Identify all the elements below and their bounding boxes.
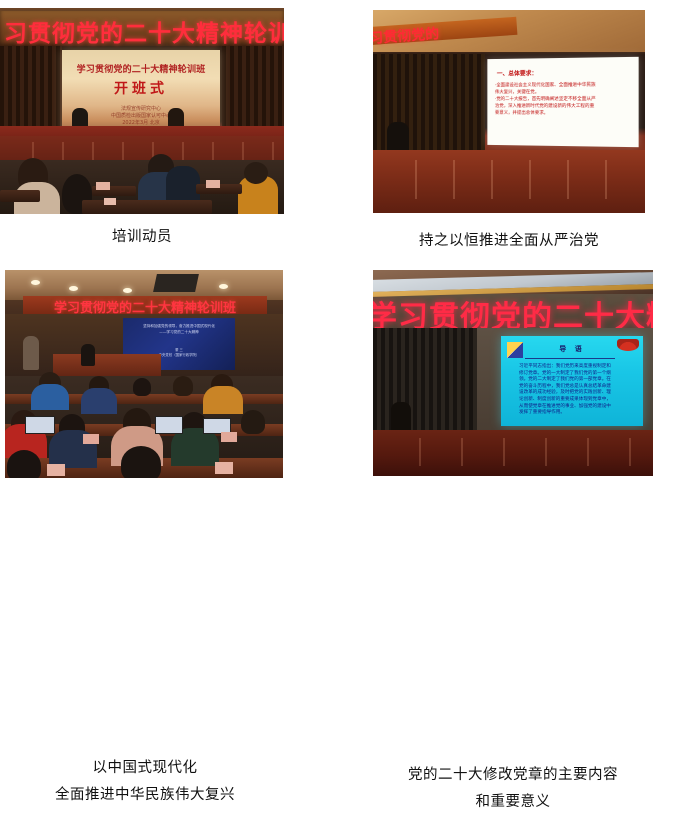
paneled-rostrum bbox=[373, 150, 645, 213]
photo-party-constitution[interactable]: 学习贯彻党的二十大精 导 语 习近平同志指出：我们党历来高度重视制定和 修订党章… bbox=[373, 270, 653, 476]
slide-body: 习近平同志指出：我们党历来高度重视制定和 修订党章。党的一大制定了我们党的第一个… bbox=[519, 364, 629, 417]
standing-presenter bbox=[23, 336, 39, 370]
photo-opening-ceremony[interactable]: 习贯彻党的二十大精神轮训 学习贯彻党的二十大精神轮训班 开班式 法规宣传研究中心… bbox=[0, 8, 284, 214]
slide-body: ·全面建设社会主义现代化国家、全面推进中华民族 伟大复兴，关键在党。 ·党的二十… bbox=[495, 82, 630, 118]
photo-strict-governance[interactable]: 习贯彻党的 一、总体要求： ·全面建设社会主义现代化国家、全面推进中华民族 伟大… bbox=[373, 10, 645, 213]
projection-screen: 一、总体要求： ·全面建设社会主义现代化国家、全面推进中华民族 伟大复兴，关键在… bbox=[487, 57, 638, 147]
caption-line: 培训动员 bbox=[0, 224, 284, 251]
caption-line: 持之以恒推进全面从严治党 bbox=[313, 228, 681, 255]
photo-gallery: 习贯彻党的二十大精神轮训 学习贯彻党的二十大精神轮训班 开班式 法规宣传研究中心… bbox=[0, 0, 681, 570]
photo-classroom[interactable]: 学习贯彻党的二十大精神轮训班 坚持和加强党的领导，奋力推进中国式现代化 ——学习… bbox=[5, 270, 283, 478]
slide-title: 导 语 bbox=[501, 344, 643, 354]
caption-1: 培训动员 bbox=[0, 224, 284, 251]
stage-curtain bbox=[373, 328, 477, 446]
projection-screen: 导 语 习近平同志指出：我们党历来高度重视制定和 修订党章。党的一大制定了我们党… bbox=[501, 336, 643, 426]
gallery-item-3: 学习贯彻党的二十大精神轮训班 坚持和加强党的领导，奋力推进中国式现代化 ——学习… bbox=[5, 270, 283, 478]
caption-4: 党的二十大修改党章的主要内容 和重要意义 bbox=[353, 762, 673, 816]
slide-title: 学习贯彻党的二十大精神轮训班 bbox=[62, 62, 220, 75]
caption-3: 以中国式现代化 全面推进中华民族伟大复兴 bbox=[0, 755, 295, 809]
slide-title: 坚持和加强党的领导，奋力推进中国式现代化 ——学习党的二十大精神 bbox=[129, 324, 229, 335]
caption-line: 全面推进中华民族伟大复兴 bbox=[0, 782, 295, 809]
ceiling-speaker bbox=[153, 274, 199, 292]
slide-divider bbox=[525, 358, 615, 359]
audience-area bbox=[0, 160, 284, 214]
hall-banner: 学习贯彻党的二十大精神轮训班 bbox=[23, 296, 267, 314]
caption-2: 持之以恒推进全面从严治党 bbox=[313, 228, 681, 255]
paneled-rostrum bbox=[373, 430, 653, 476]
gallery-item-4: 学习贯彻党的二十大精 导 语 习近平同志指出：我们党历来高度重视制定和 修订党章… bbox=[373, 270, 653, 476]
hall-banner-text: 习贯彻党的二十大精神轮训 bbox=[4, 14, 284, 48]
gallery-item-1: 习贯彻党的二十大精神轮训 学习贯彻党的二十大精神轮训班 开班式 法规宣传研究中心… bbox=[0, 8, 284, 214]
caption-line: 党的二十大修改党章的主要内容 bbox=[353, 762, 673, 789]
caption-line: 以中国式现代化 bbox=[0, 755, 295, 782]
caption-line: 和重要意义 bbox=[353, 789, 673, 816]
seated-host bbox=[81, 344, 95, 366]
speaker-person bbox=[387, 122, 409, 152]
audience-floor bbox=[5, 376, 283, 478]
gallery-item-2: 习贯彻党的 一、总体要求： ·全面建设社会主义现代化国家、全面推进中华民族 伟大… bbox=[373, 10, 645, 213]
speaker-person bbox=[391, 402, 411, 432]
slide-subtitle: 开班式 bbox=[62, 78, 220, 98]
slide-heading: 一、总体要求： bbox=[497, 68, 538, 77]
